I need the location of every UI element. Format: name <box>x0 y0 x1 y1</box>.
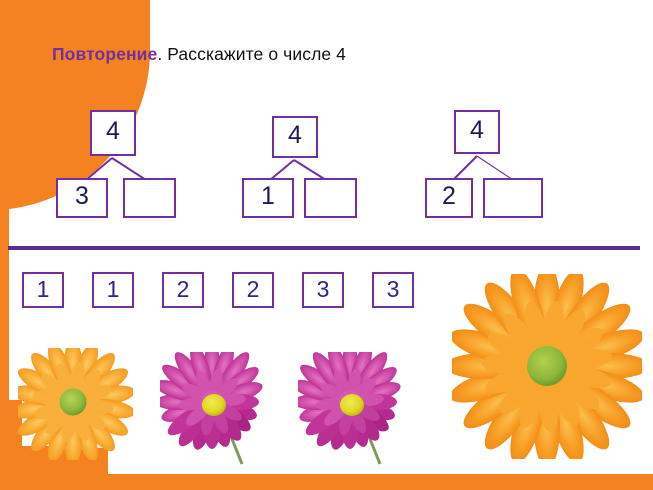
digit-box-1[interactable]: 1 <box>22 272 64 308</box>
digit-value-1: 1 <box>37 278 50 301</box>
flower-orange-small <box>18 348 133 460</box>
bond-3-left-part-box[interactable]: 2 <box>425 178 473 218</box>
bond-3-left-part-value: 2 <box>442 184 456 209</box>
digit-value-6: 3 <box>387 278 400 301</box>
digit-box-4[interactable]: 2 <box>232 272 274 308</box>
bond-2-right-part-box[interactable] <box>304 178 357 218</box>
bond-3-whole-value: 4 <box>470 118 484 143</box>
bond-1-whole-box[interactable]: 4 <box>90 110 136 156</box>
flower-orange-large <box>452 274 642 459</box>
digit-value-5: 3 <box>317 278 330 301</box>
bond-2-whole-box[interactable]: 4 <box>272 116 318 158</box>
number-bond-3: 4 2 <box>425 110 565 222</box>
digit-box-5[interactable]: 3 <box>302 272 344 308</box>
bond-2-left-part-box[interactable]: 1 <box>242 178 294 218</box>
digit-value-2: 1 <box>107 278 120 301</box>
bond-3-right-part-box[interactable] <box>483 178 543 218</box>
title-rest: . Расскажите о числе 4 <box>157 44 346 64</box>
title-keyword: Повторение <box>52 44 157 64</box>
number-bond-2: 4 1 <box>242 116 382 228</box>
flower-pink-2 <box>298 352 408 474</box>
bond-1-whole-value: 4 <box>106 119 120 144</box>
bond-1-left-part-box[interactable]: 3 <box>56 178 108 218</box>
digit-box-3[interactable]: 2 <box>162 272 204 308</box>
slide-canvas: Повторение. Расскажите о числе 4 4 3 4 1 <box>0 0 653 490</box>
flower-pink-1 <box>160 352 270 474</box>
digit-value-4: 2 <box>247 278 260 301</box>
digit-box-2[interactable]: 1 <box>92 272 134 308</box>
digit-box-6[interactable]: 3 <box>372 272 414 308</box>
digit-row: 1 1 2 2 3 3 <box>22 272 442 308</box>
bond-2-whole-value: 4 <box>288 123 302 148</box>
orange-bottom-bar <box>0 474 653 490</box>
digit-value-3: 2 <box>177 278 190 301</box>
bond-2-left-part-value: 1 <box>261 184 275 209</box>
number-bond-1: 4 3 <box>56 110 196 222</box>
bond-3-whole-box[interactable]: 4 <box>454 110 500 154</box>
horizontal-divider <box>8 246 640 250</box>
bond-1-right-part-box[interactable] <box>123 178 176 218</box>
bond-1-left-part-value: 3 <box>75 184 89 209</box>
page-title: Повторение. Расскажите о числе 4 <box>52 44 346 65</box>
